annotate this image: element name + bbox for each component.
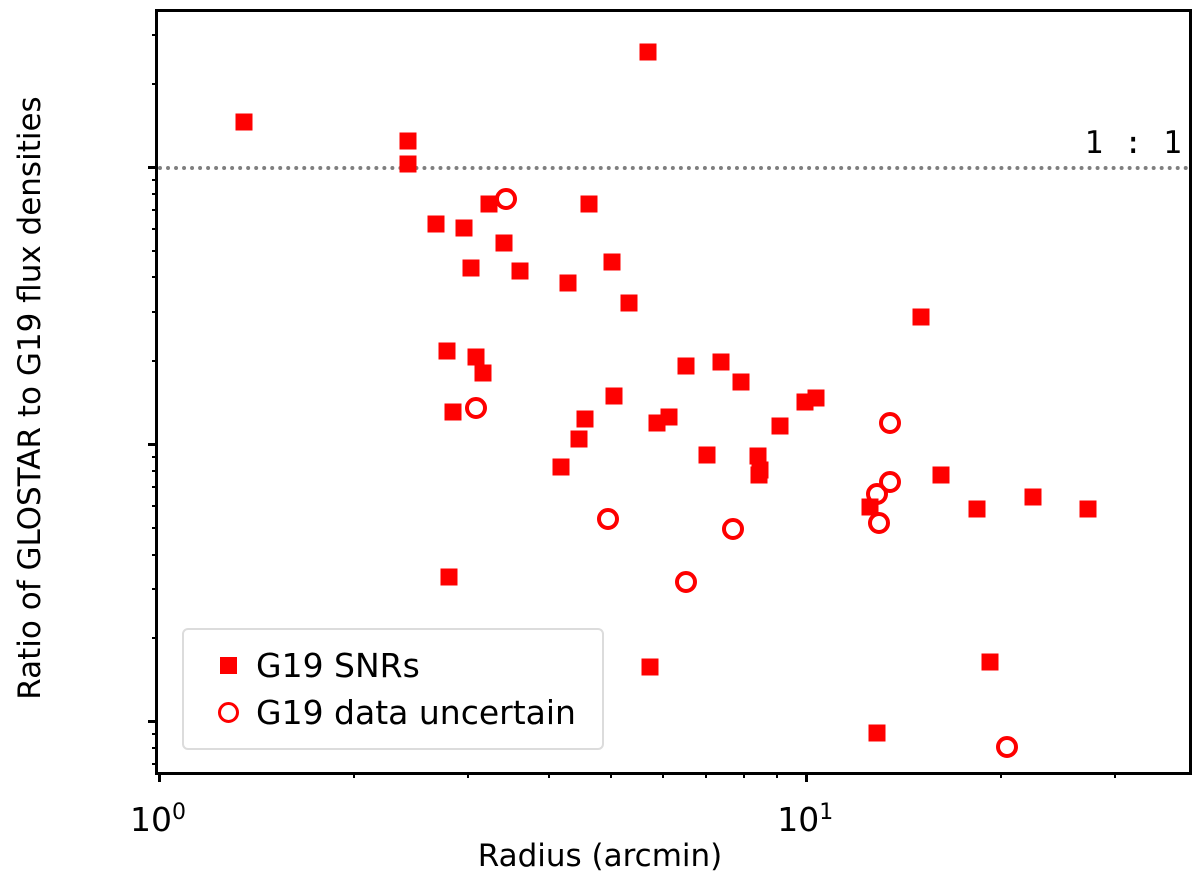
y-axis-tick-minor [152,193,158,195]
y-axis-tick-minor [152,311,158,313]
data-point [465,397,487,419]
y-axis-tick-minor [152,34,158,36]
x-axis-tick-major [805,772,808,782]
x-axis-tick-minor [662,772,664,778]
data-point [732,374,749,391]
y-axis-tick-minor [152,763,158,765]
data-point [570,430,587,447]
data-point [913,309,930,326]
y-axis-tick-minor [152,276,158,278]
data-point [772,418,789,435]
data-point [399,133,416,150]
y-axis-tick-minor [152,747,158,749]
data-point [606,388,623,405]
data-point [868,725,885,742]
open-circle-icon [200,702,256,723]
data-point [996,736,1018,758]
x-axis-tick-label: 101 [777,800,833,839]
x-axis-title: Radius (arcmin) [0,838,1200,874]
x-axis-tick-minor [743,772,745,778]
data-point [661,409,678,426]
y-axis-tick-minor [152,179,158,181]
filled-square-icon [200,657,256,674]
data-point [597,508,619,530]
y-axis-tick-minor [152,505,158,507]
data-point [456,219,473,236]
data-point [868,512,890,534]
x-axis-tick-minor [705,772,707,778]
data-point [236,114,253,131]
data-point [713,354,730,371]
x-axis-tick-major [158,772,161,782]
data-point [968,500,985,517]
y-axis-tick-minor [152,209,158,211]
data-point [441,568,458,585]
y-axis-tick-minor [152,360,158,362]
data-point [580,196,597,213]
y-axis-tick-major [148,166,158,169]
x-axis-tick-minor [610,772,612,778]
data-point [675,571,697,593]
legend-label-g19-snrs: G19 SNRs [256,646,420,685]
y-axis-tick-minor [152,250,158,252]
y-axis-tick-minor [152,733,158,735]
plot-area: 1 : 1 10010−110−2100101 G19 SNRs G19 dat… [155,9,1192,775]
y-axis-tick-minor [152,554,158,556]
y-axis-tick-minor [152,527,158,529]
data-point [722,518,744,540]
data-point [621,295,638,312]
legend-label-g19-data-uncertain: G19 data uncertain [256,693,576,732]
data-point [932,466,949,483]
data-point [639,44,656,61]
y-axis-title: Ratio of GLOSTAR to G19 flux densities [12,18,48,778]
data-point [603,254,620,271]
y-axis-tick-minor [152,456,158,458]
data-point [428,215,445,232]
scatter-plot-figure: 1 : 1 10010−110−2100101 G19 SNRs G19 dat… [0,0,1200,883]
data-point [399,155,416,172]
legend-item-g19-data-uncertain: G19 data uncertain [200,689,576,736]
y-axis-tick-minor [152,637,158,639]
data-point [982,653,999,670]
data-point [439,343,456,360]
data-point [463,259,480,276]
y-axis-tick-minor [152,228,158,230]
data-point [808,389,825,406]
x-axis-tick-minor [776,772,778,778]
data-point [1079,500,1096,517]
data-point [1025,489,1042,506]
x-axis-tick-minor [467,772,469,778]
data-point [511,262,528,279]
data-point [553,459,570,476]
data-point [560,274,577,291]
data-point [445,403,462,420]
x-axis-tick-minor [548,772,550,778]
data-point [475,364,492,381]
legend-item-g19-snrs: G19 SNRs [200,642,576,689]
data-point [699,446,716,463]
data-point [750,466,767,483]
data-point [866,483,888,505]
data-point [642,658,659,675]
x-axis-tick-minor [1000,772,1002,778]
data-point [879,412,901,434]
y-axis-tick-minor [152,588,158,590]
one-to-one-label: 1 : 1 [1085,125,1183,161]
x-axis-tick-label: 100 [130,800,186,839]
data-point [678,358,695,375]
y-axis-tick-minor [152,470,158,472]
data-point [576,411,593,428]
y-axis-tick-major [148,720,158,723]
x-axis-tick-minor [1114,772,1116,778]
data-point [468,348,485,365]
y-axis-tick-minor [152,83,158,85]
y-axis-tick-major [148,443,158,446]
x-axis-tick-minor [353,772,355,778]
chart-legend: G19 SNRs G19 data uncertain [182,628,604,750]
data-point [495,188,517,210]
one-to-one-line [158,166,1189,170]
data-point [496,234,513,251]
y-axis-tick-minor [152,486,158,488]
